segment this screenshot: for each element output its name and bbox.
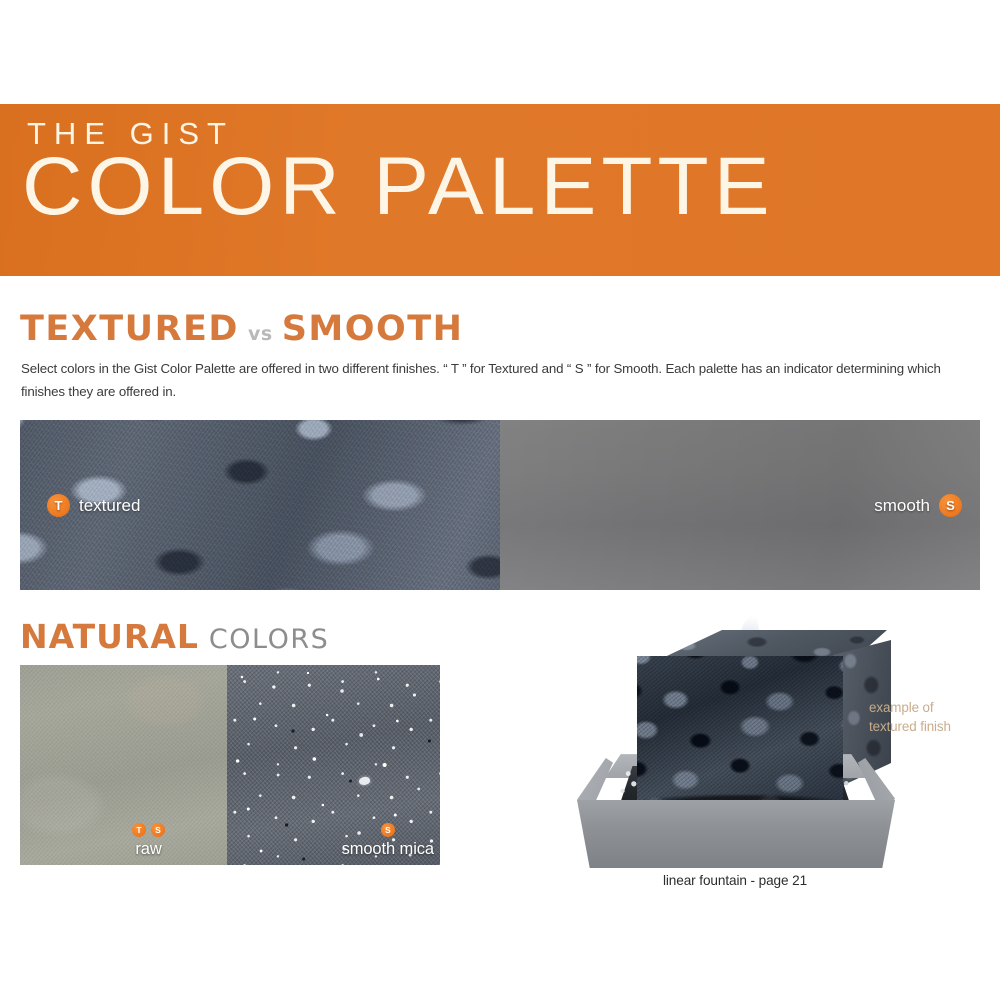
raw-surface-grain bbox=[20, 665, 227, 865]
heading-textured: TEXTURED bbox=[20, 309, 239, 349]
badge-s-icon: S bbox=[939, 494, 962, 517]
textured-sample-tag: T textured bbox=[47, 494, 140, 517]
heading-connector-vs: vs bbox=[239, 323, 282, 345]
raw-badge-group: T S bbox=[132, 823, 165, 837]
page-title: COLOR PALETTE bbox=[22, 146, 775, 228]
natural-colors-heading: NATURALCOLORS bbox=[20, 620, 329, 653]
raw-swatch-tag: T S raw bbox=[132, 823, 165, 859]
heading-colors: COLORS bbox=[199, 624, 329, 655]
mica-swatch-tag: S smooth mica bbox=[342, 823, 434, 859]
raw-swatch-label: raw bbox=[135, 840, 161, 859]
natural-color-swatch-group: T S raw S smooth mica bbox=[20, 665, 440, 865]
annotation-line-2: textured finish bbox=[869, 717, 951, 736]
textured-sample-label: textured bbox=[79, 496, 140, 516]
linear-fountain-photo bbox=[565, 612, 905, 867]
textured-finish-sample: T textured bbox=[20, 420, 500, 590]
badge-t-icon: T bbox=[47, 494, 70, 517]
block-front-grain bbox=[637, 656, 843, 804]
badge-s-icon: S bbox=[151, 823, 165, 837]
textured-vs-smooth-heading: TEXTUREDvsSMOOTH bbox=[20, 312, 463, 347]
color-palette-page: THE GIST COLOR PALETTE TEXTUREDvsSMOOTH … bbox=[0, 0, 1000, 1000]
textured-finish-annotation: example of textured finish bbox=[869, 698, 951, 737]
fountain-caption: linear fountain - page 21 bbox=[565, 873, 905, 888]
badge-t-icon: T bbox=[132, 823, 146, 837]
swatch-smooth-mica[interactable]: S smooth mica bbox=[227, 665, 440, 865]
smooth-finish-sample: smooth S bbox=[500, 420, 980, 590]
textured-vs-smooth-body-text: Select colors in the Gist Color Palette … bbox=[21, 358, 981, 404]
basin-front-face bbox=[577, 800, 895, 868]
finish-comparison-strip: T textured smooth S bbox=[20, 420, 980, 590]
fountain-block-front-face bbox=[637, 656, 843, 804]
mica-badge-group: S bbox=[381, 823, 395, 837]
smooth-sample-tag: smooth S bbox=[874, 494, 962, 517]
annotation-line-1: example of bbox=[869, 698, 951, 717]
page-header-band: THE GIST COLOR PALETTE bbox=[0, 104, 1000, 276]
heading-smooth: SMOOTH bbox=[282, 309, 464, 349]
smooth-sample-label: smooth bbox=[874, 496, 930, 516]
mica-swatch-label: smooth mica bbox=[342, 840, 434, 859]
heading-natural: NATURAL bbox=[20, 617, 199, 656]
badge-s-icon: S bbox=[381, 823, 395, 837]
swatch-raw[interactable]: T S raw bbox=[20, 665, 227, 865]
